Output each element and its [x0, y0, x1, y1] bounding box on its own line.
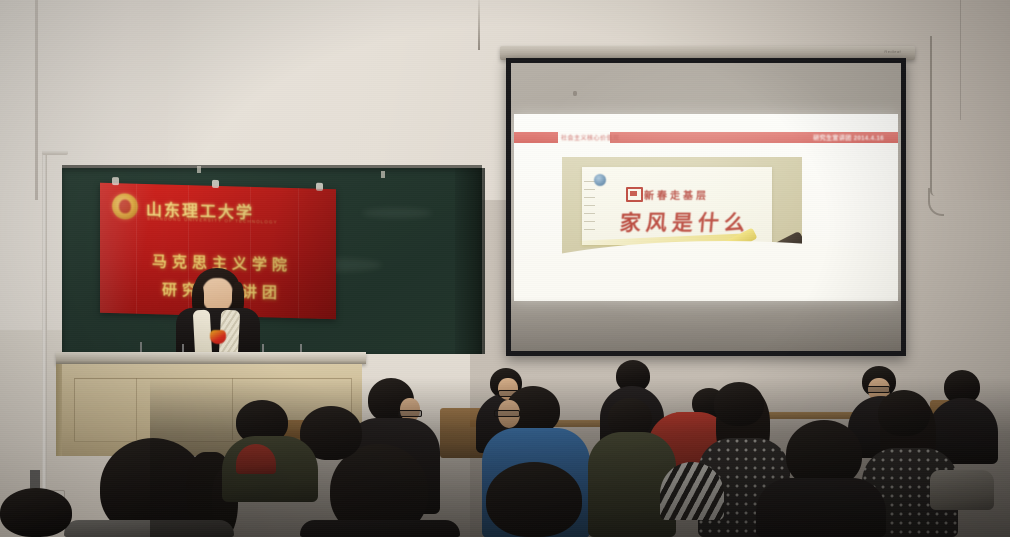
audience-striped-sleeve: [660, 462, 724, 520]
chalkboard-shadow: [455, 168, 485, 354]
slide-header-right-text: 研究生宣讲团 2014.4.16: [813, 133, 884, 142]
audience-torso: [64, 520, 234, 537]
screen-speck: [573, 91, 577, 96]
speaker-presenter: [170, 268, 266, 360]
university-flame-emblem: [112, 193, 138, 220]
audience-head: [714, 382, 764, 426]
blue-seal-dot: [594, 174, 606, 186]
audience-torso: [300, 520, 460, 537]
conduit-bracket: [42, 150, 68, 155]
audience-torso: [756, 478, 886, 537]
audience-head: [878, 390, 930, 436]
eyeglasses: [398, 410, 422, 417]
slide-caption-small: 新春走基层: [644, 187, 709, 202]
speaker-shirt-emblem: [210, 330, 226, 344]
slide-header-left-text: 社会主义核心价值观: [561, 133, 620, 142]
hanging-cord: [930, 36, 935, 196]
audience-head: [486, 462, 582, 537]
screen-pull-cord: [478, 0, 480, 50]
eyeglasses: [866, 386, 890, 393]
audience-head: [0, 488, 72, 537]
projection-screen: 社会主义核心价值观 研究生宣讲团 2014.4.16 新春走基层: [506, 58, 906, 356]
wall-seam: [960, 0, 961, 120]
audience-bag: [930, 470, 994, 510]
banner-university-name-english: SHANDONG UNIVERSITY OF TECHNOLOGY: [147, 216, 278, 225]
screen-surface: 社会主义核心价值观 研究生宣讲团 2014.4.16 新春走基层: [511, 63, 901, 351]
red-stamp-icon: [626, 187, 643, 202]
wall-conduit-pipe: [42, 150, 47, 530]
chalkboard-clip: [197, 166, 201, 173]
projected-slide: 社会主义核心价值观 研究生宣讲团 2014.4.16 新春走基层: [514, 114, 898, 301]
eyeglasses: [494, 410, 520, 417]
screen-bottom-shade: [511, 297, 901, 351]
screen-brand-label: Redleaf: [884, 49, 901, 54]
lecture-hall-photo: 山东理工大学 SHANDONG UNIVERSITY OF TECHNOLOGY…: [0, 0, 1010, 537]
podium-ledge: [56, 352, 366, 364]
slide-caption-large: 家风是什么: [619, 207, 752, 237]
chalkboard-clip: [381, 171, 385, 178]
wall-corner-edge: [35, 0, 38, 200]
